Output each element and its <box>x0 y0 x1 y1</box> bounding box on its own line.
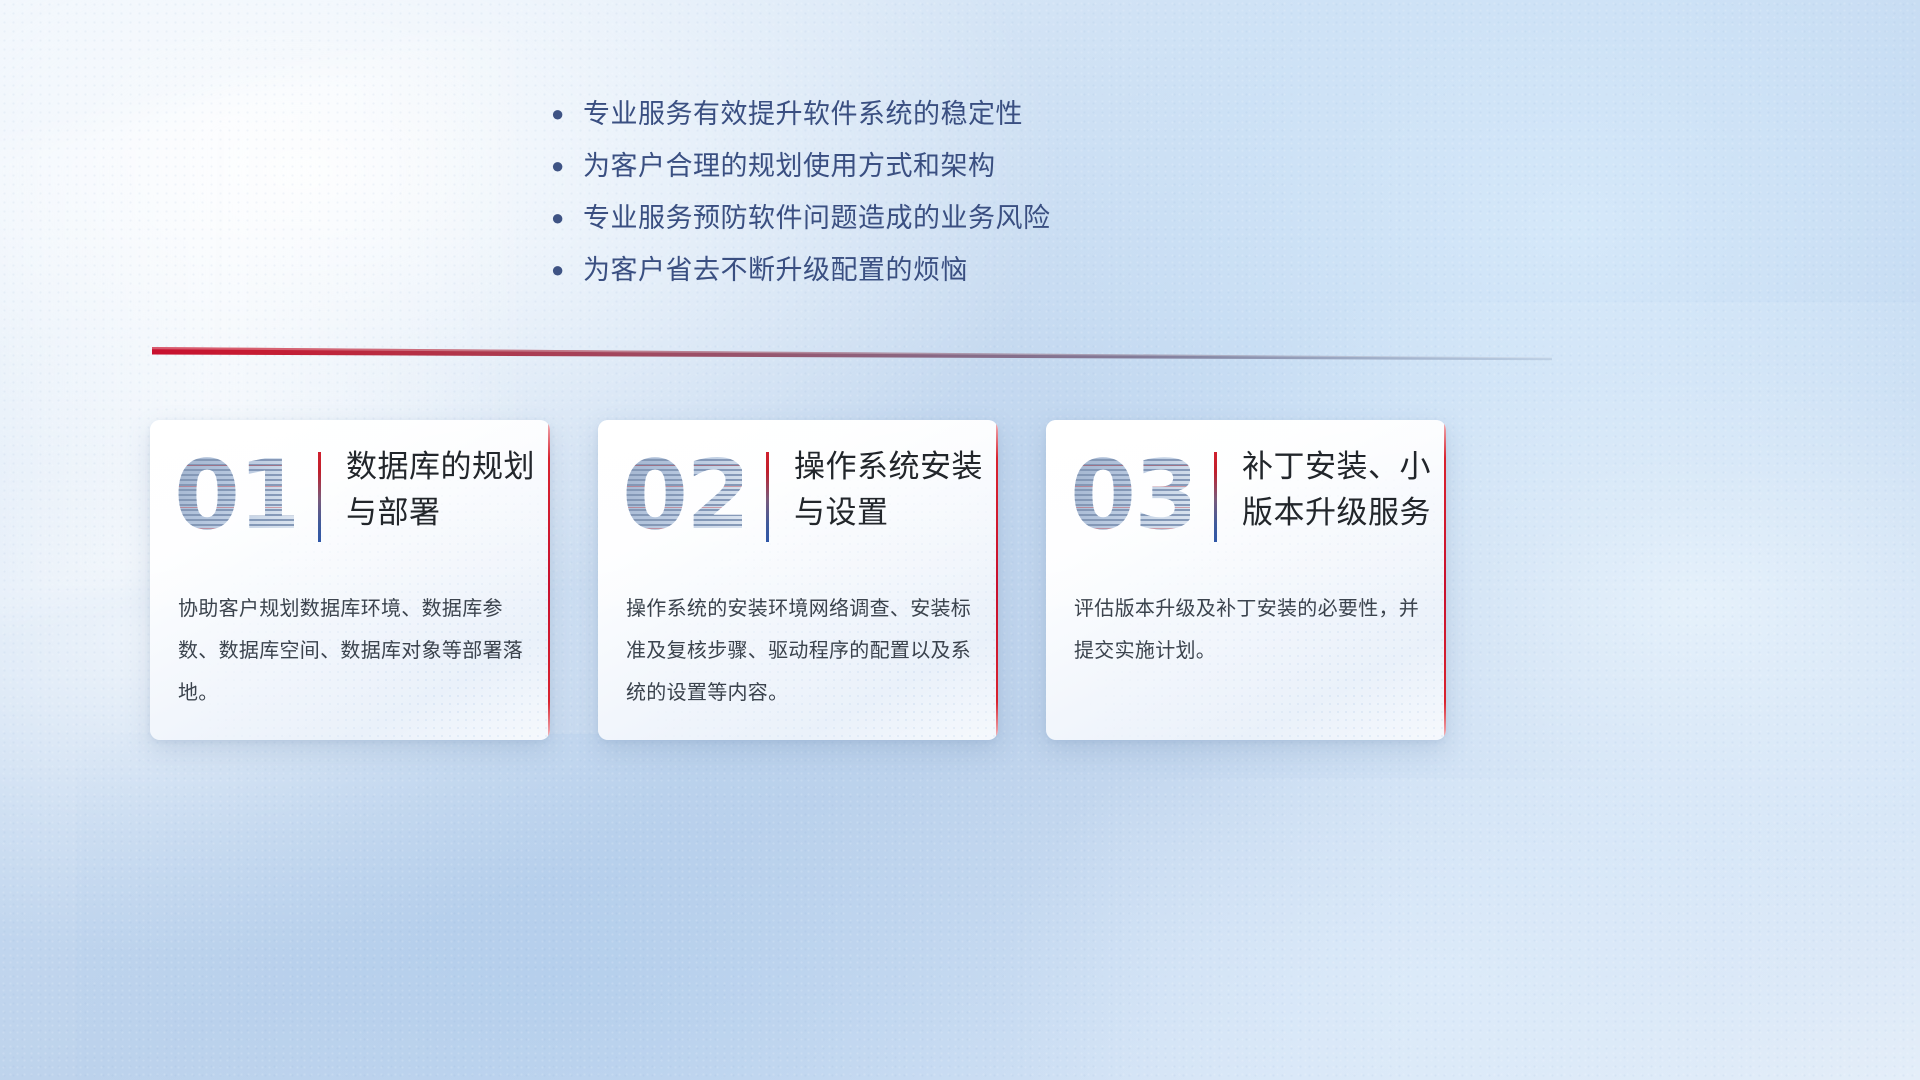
bullet-dot-icon: ● <box>545 140 583 192</box>
card-header: 02 02 操作系统安装 与设置 <box>598 438 998 563</box>
card-title-line1: 操作系统安装 <box>794 444 990 490</box>
card-title: 数据库的规划 与部署 <box>346 444 542 536</box>
benefits-bullet-list: ● 专业服务有效提升软件系统的稳定性 ● 为客户合理的规划使用方式和架构 ● 专… <box>545 88 1365 296</box>
service-card[interactable]: 01 01 数据库的规划 与部署 协助客户规划数据库环境、数据库参数、数据库空间… <box>150 420 550 740</box>
service-card[interactable]: 02 02 操作系统安装 与设置 操作系统的安装环境网络调查、安装标准及复核步骤… <box>598 420 998 740</box>
card-title-divider-bar <box>1214 452 1217 542</box>
card-title-line1: 补丁安装、小 <box>1242 444 1438 490</box>
slide-root: ● 专业服务有效提升软件系统的稳定性 ● 为客户合理的规划使用方式和架构 ● 专… <box>0 0 1920 1080</box>
card-header: 03 03 补丁安装、小 版本升级服务 <box>1046 438 1446 563</box>
bullet-dot-icon: ● <box>545 88 583 140</box>
card-title-line2: 与部署 <box>346 490 542 536</box>
card-number-red-tint: 03 <box>1070 444 1190 549</box>
card-body-text: 协助客户规划数据库环境、数据库参数、数据库空间、数据库对象等部署落地。 <box>178 588 528 714</box>
bullet-text: 为客户省去不断升级配置的烦恼 <box>583 244 968 296</box>
bullet-text: 为客户合理的规划使用方式和架构 <box>583 140 996 192</box>
card-number-watermark: 01 01 <box>174 444 294 549</box>
card-title: 补丁安装、小 版本升级服务 <box>1242 444 1438 536</box>
bullet-dot-icon: ● <box>545 244 583 296</box>
list-item: ● 专业服务预防软件问题造成的业务风险 <box>545 192 1365 244</box>
card-number-watermark: 03 03 <box>1070 444 1190 549</box>
list-item: ● 专业服务有效提升软件系统的稳定性 <box>545 88 1365 140</box>
card-title-line2: 版本升级服务 <box>1242 490 1438 536</box>
card-body-text: 操作系统的安装环境网络调查、安装标准及复核步骤、驱动程序的配置以及系统的设置等内… <box>626 588 976 714</box>
card-title-divider-bar <box>318 452 321 542</box>
card-title-line1: 数据库的规划 <box>346 444 542 490</box>
card-header: 01 01 数据库的规划 与部署 <box>150 438 550 563</box>
bullet-text: 专业服务有效提升软件系统的稳定性 <box>583 88 1023 140</box>
bullet-text: 专业服务预防软件问题造成的业务风险 <box>583 192 1051 244</box>
divider-shape <box>152 345 1552 369</box>
card-number-red-tint: 02 <box>622 444 742 549</box>
card-title-line2: 与设置 <box>794 490 990 536</box>
service-card-group: 01 01 数据库的规划 与部署 协助客户规划数据库环境、数据库参数、数据库空间… <box>150 420 1770 745</box>
card-title: 操作系统安装 与设置 <box>794 444 990 536</box>
card-title-divider-bar <box>766 452 769 542</box>
gradient-wedge-divider <box>152 345 1552 369</box>
list-item: ● 为客户合理的规划使用方式和架构 <box>545 140 1365 192</box>
service-card[interactable]: 03 03 补丁安装、小 版本升级服务 评估版本升级及补丁安装的必要性，并提交实… <box>1046 420 1446 740</box>
card-number-watermark: 02 02 <box>622 444 742 549</box>
bullet-dot-icon: ● <box>545 192 583 244</box>
card-number-red-tint: 01 <box>174 444 294 549</box>
list-item: ● 为客户省去不断升级配置的烦恼 <box>545 244 1365 296</box>
card-body-text: 评估版本升级及补丁安装的必要性，并提交实施计划。 <box>1074 588 1424 672</box>
